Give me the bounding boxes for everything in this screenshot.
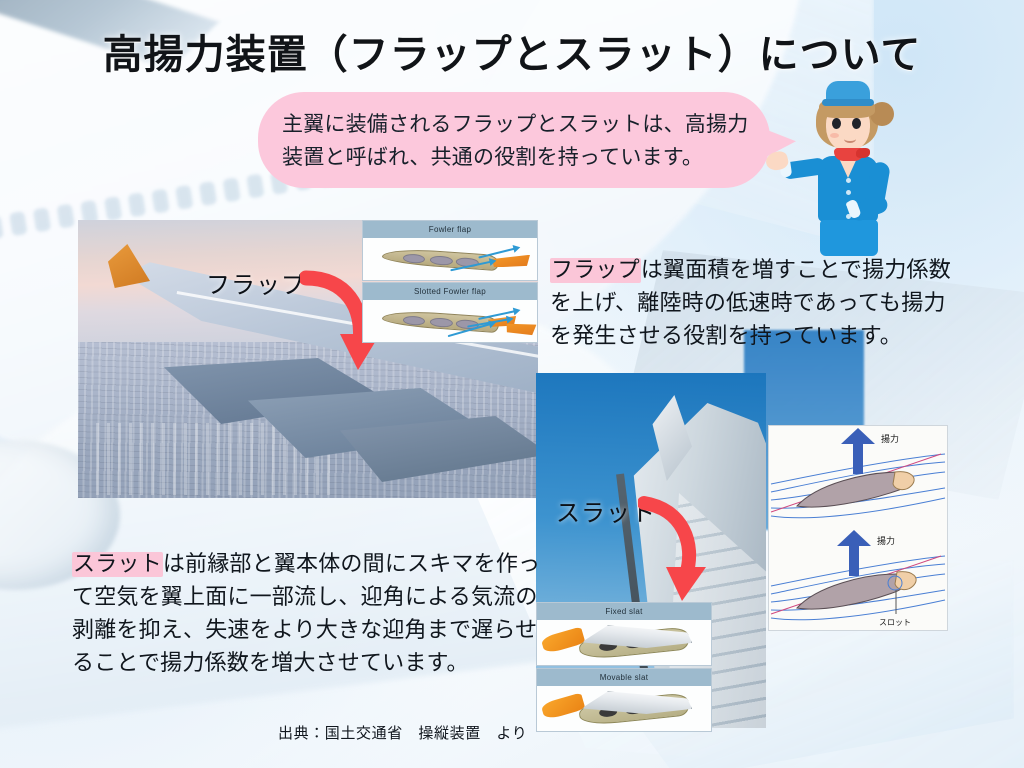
character-button — [846, 190, 851, 195]
flap-element — [492, 255, 530, 268]
character-button — [846, 178, 851, 183]
diagram-title: Fixed slat — [537, 603, 711, 620]
speech-bubble: 主翼に装備されるフラップとスラットは、高揚力 装置と呼ばれ、共通の役割を持ってい… — [258, 92, 770, 188]
character-smile — [844, 135, 856, 143]
flight-attendant-character — [786, 78, 906, 258]
lift-label-bottom: 揚力 — [877, 535, 895, 547]
background-cabin-window — [128, 192, 146, 217]
slat-paragraph-line-2: て空気を翼上面に一部流し、迎角による気流の — [72, 581, 542, 614]
diagram-slotted-fowler-flap: Slotted Fowler flap — [362, 282, 538, 343]
diagram-fowler-flap: Fowler flap — [362, 220, 538, 281]
slat-description-paragraph: スラットは前縁部と翼本体の間にスキマを作っ て空気を翼上面に一部流し、迎角による… — [72, 548, 542, 680]
slide-canvas: 高揚力装置（フラップとスラット）について 主翼に装備されるフラップとスラットは、… — [0, 0, 1024, 768]
flap-paragraph-line-3: を発生させる役割を持っています。 — [550, 320, 1010, 353]
airfoil-shape — [382, 309, 500, 333]
source-credit: 出典：国土交通省 操縦装置 より — [278, 722, 527, 743]
diagram-body — [537, 686, 711, 731]
flap-callout-label: フラップ — [206, 265, 306, 300]
flap-paragraph-line-1-rest: は翼面積を増すことで揚力係数 — [641, 258, 951, 283]
diagram-movable-slat: Movable slat — [536, 668, 712, 732]
character-scarf-knot — [856, 148, 870, 158]
airfoil-hole — [430, 317, 453, 328]
flap-paragraph-line-2: を上げ、離陸時の低速時であっても揚力 — [550, 287, 1010, 320]
flap-description-paragraph: フラップは翼面積を増すことで揚力係数 を上げ、離陸時の低速時であっても揚力 を発… — [550, 254, 1010, 353]
character-skirt — [820, 220, 878, 256]
speech-bubble-line-1: 主翼に装備されるフラップとスラットは、高揚力 — [282, 108, 752, 141]
airfoil-hole — [430, 255, 453, 266]
diagram-body — [537, 620, 711, 665]
character-hat-brim — [822, 99, 874, 106]
flap-term-highlight: フラップ — [550, 258, 641, 283]
slot-label: スロット — [879, 618, 911, 627]
diagram-title: Slotted Fowler flap — [363, 283, 537, 300]
diagram-fixed-slat: Fixed slat — [536, 602, 712, 666]
background-cabin-window — [33, 207, 51, 232]
slat-paragraph-line-1-rest: は前縁部と翼本体の間にスキマを作っ — [163, 552, 540, 577]
character-eye-right — [852, 118, 861, 129]
flap-paragraph-line-1: フラップは翼面積を増すことで揚力係数 — [550, 254, 1010, 287]
slat-callout-arrow-icon — [638, 495, 728, 605]
background-cabin-window — [0, 215, 4, 240]
slat-paragraph-line-4: ることで揚力係数を増大させています。 — [72, 647, 542, 680]
lift-airflow-diagram: 揚力 揚力 スロット — [768, 425, 948, 631]
slat-paragraph-line-3: 剥離を抑え、失速をより大きな迎角まで遅らせ — [72, 614, 542, 647]
background-cabin-window — [9, 211, 27, 236]
speech-bubble-line-2: 装置と呼ばれ、共通の役割を持っています。 — [282, 141, 752, 174]
background-cabin-window — [57, 204, 75, 229]
background-cabin-window — [175, 185, 193, 210]
background-cabin-window — [222, 177, 240, 202]
airflow-lower-group: 揚力 スロット — [771, 530, 945, 627]
page-title: 高揚力装置（フラップとスラット）について — [0, 22, 1024, 80]
airfoil-hole — [402, 254, 425, 265]
diagram-title: Fowler flap — [363, 221, 537, 238]
airfoil-shape — [382, 247, 500, 271]
lift-airflow-svg: 揚力 揚力 スロット — [769, 426, 947, 630]
character-eye-left — [832, 118, 841, 129]
background-cabin-window — [199, 181, 217, 206]
speech-bubble-text: 主翼に装備されるフラップとスラットは、高揚力 装置と呼ばれ、共通の役割を持ってい… — [282, 108, 752, 173]
airflow-upper-group: 揚力 — [771, 428, 945, 518]
character-cheek — [830, 133, 839, 138]
background-cabin-window — [246, 174, 264, 199]
lift-label-top: 揚力 — [881, 433, 899, 445]
diagram-title: Movable slat — [537, 669, 711, 686]
slat-paragraph-line-1: スラットは前縁部と翼本体の間にスキマを作っ — [72, 548, 542, 581]
slat-term-highlight: スラット — [72, 552, 163, 577]
diagram-body — [363, 238, 537, 280]
background-cabin-window — [151, 189, 169, 214]
background-cabin-window — [104, 196, 122, 221]
diagram-body — [363, 300, 537, 342]
airfoil-hole — [402, 316, 425, 327]
